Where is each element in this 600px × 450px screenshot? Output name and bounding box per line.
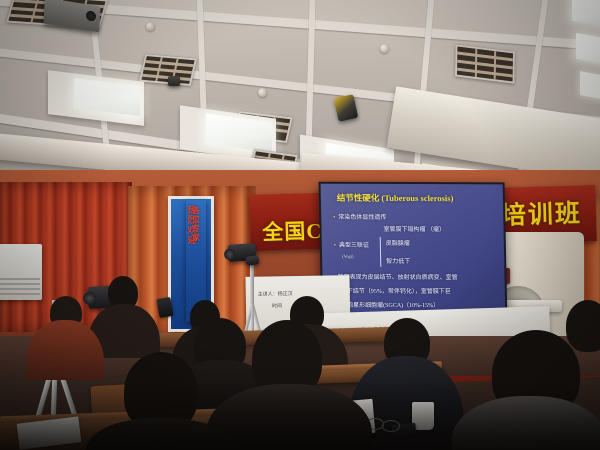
slide-bullet-2: 室管膜下错构瘤 （瘤） [383,224,445,233]
ceiling-light-panel [580,71,600,101]
attendee-phone-raised [156,297,173,318]
hanging-decoration [334,94,359,122]
ceiling-speaker [168,76,180,86]
ceiling-light-panel [572,0,600,27]
slide-brace [380,237,382,267]
slide-bullet-5: 智力低下 [386,256,410,265]
slide-bullet-8: 细胞星形细胞瘤(SGCA)（10%-15%） [341,300,439,309]
ceiling-projector [44,0,101,32]
air-conditioner [0,244,42,300]
slide-bullet-7: 膜下结节（95%，常伴钙化），室管膜下巨 [341,286,451,295]
bullet-dot: • [334,243,336,249]
smoke-detector [146,22,155,31]
smoke-detector [380,44,389,53]
foreground-shadow [0,380,600,450]
smoke-detector [258,88,267,97]
slide-bullet-6: •脑部表现为皮层结节、放射状白质病变、室管 [332,272,457,281]
slide-bullet-3: •典型三联征 [334,240,369,249]
slide-title: 结节性硬化 (Tuberous sclerosis) [337,192,454,204]
ceiling-grille-light [455,44,515,83]
lecture-hall-photo: 热烈欢迎 各位专家 全国CT 展培训班 结节性硬化 (Tuberous scle… [0,0,600,450]
slide-vogt-label: (Vogt) [342,254,354,259]
ceiling-light-panel [576,33,600,65]
slide-bullet-4: 皮脂腺瘤 [386,238,410,247]
attendee-head-far-right [566,300,600,352]
slide-bullet-1: •常染色体显性遗传 [333,212,386,221]
welcome-banner-line2: 各位专家 [191,206,202,242]
camcorder-viewfinder [245,255,259,266]
signboard-line2: 时间 [272,302,282,309]
bullet-dot: • [333,215,335,221]
